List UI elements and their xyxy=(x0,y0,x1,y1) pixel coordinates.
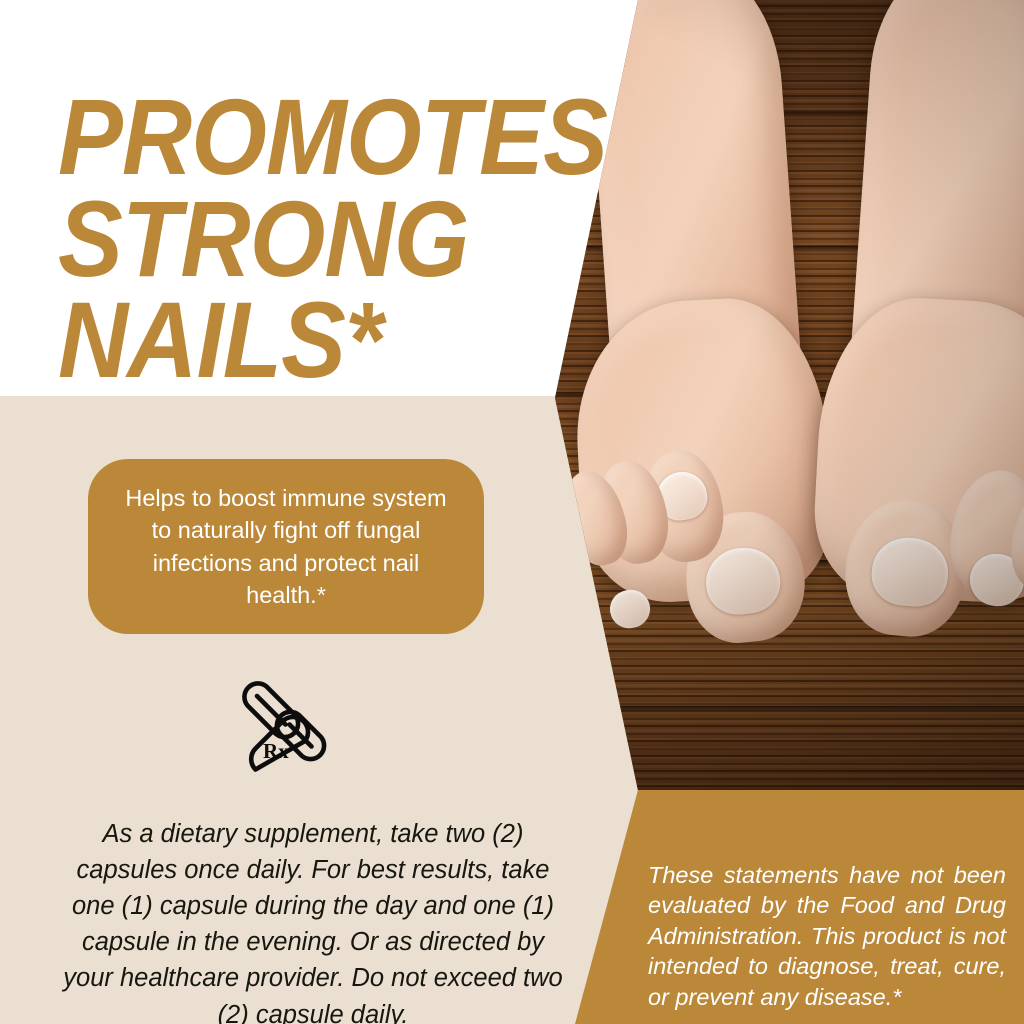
rx-capsules-icon: Rx xyxy=(228,680,332,784)
fda-disclaimer-text: These statements have not been evaluated… xyxy=(648,860,1006,1013)
page-title: Promotes Strong Nails* xyxy=(58,86,562,391)
dosage-instructions: As a dietary supplement, take two (2) ca… xyxy=(62,816,564,1024)
rx-icon-label: Rx xyxy=(263,739,289,763)
benefit-callout-text: Helps to boost immune system to naturall… xyxy=(114,482,458,612)
product-infographic-poster: Promotes Strong Nails* Helps to boost im… xyxy=(0,0,1024,1024)
benefit-callout-box: Helps to boost immune system to naturall… xyxy=(88,459,484,634)
